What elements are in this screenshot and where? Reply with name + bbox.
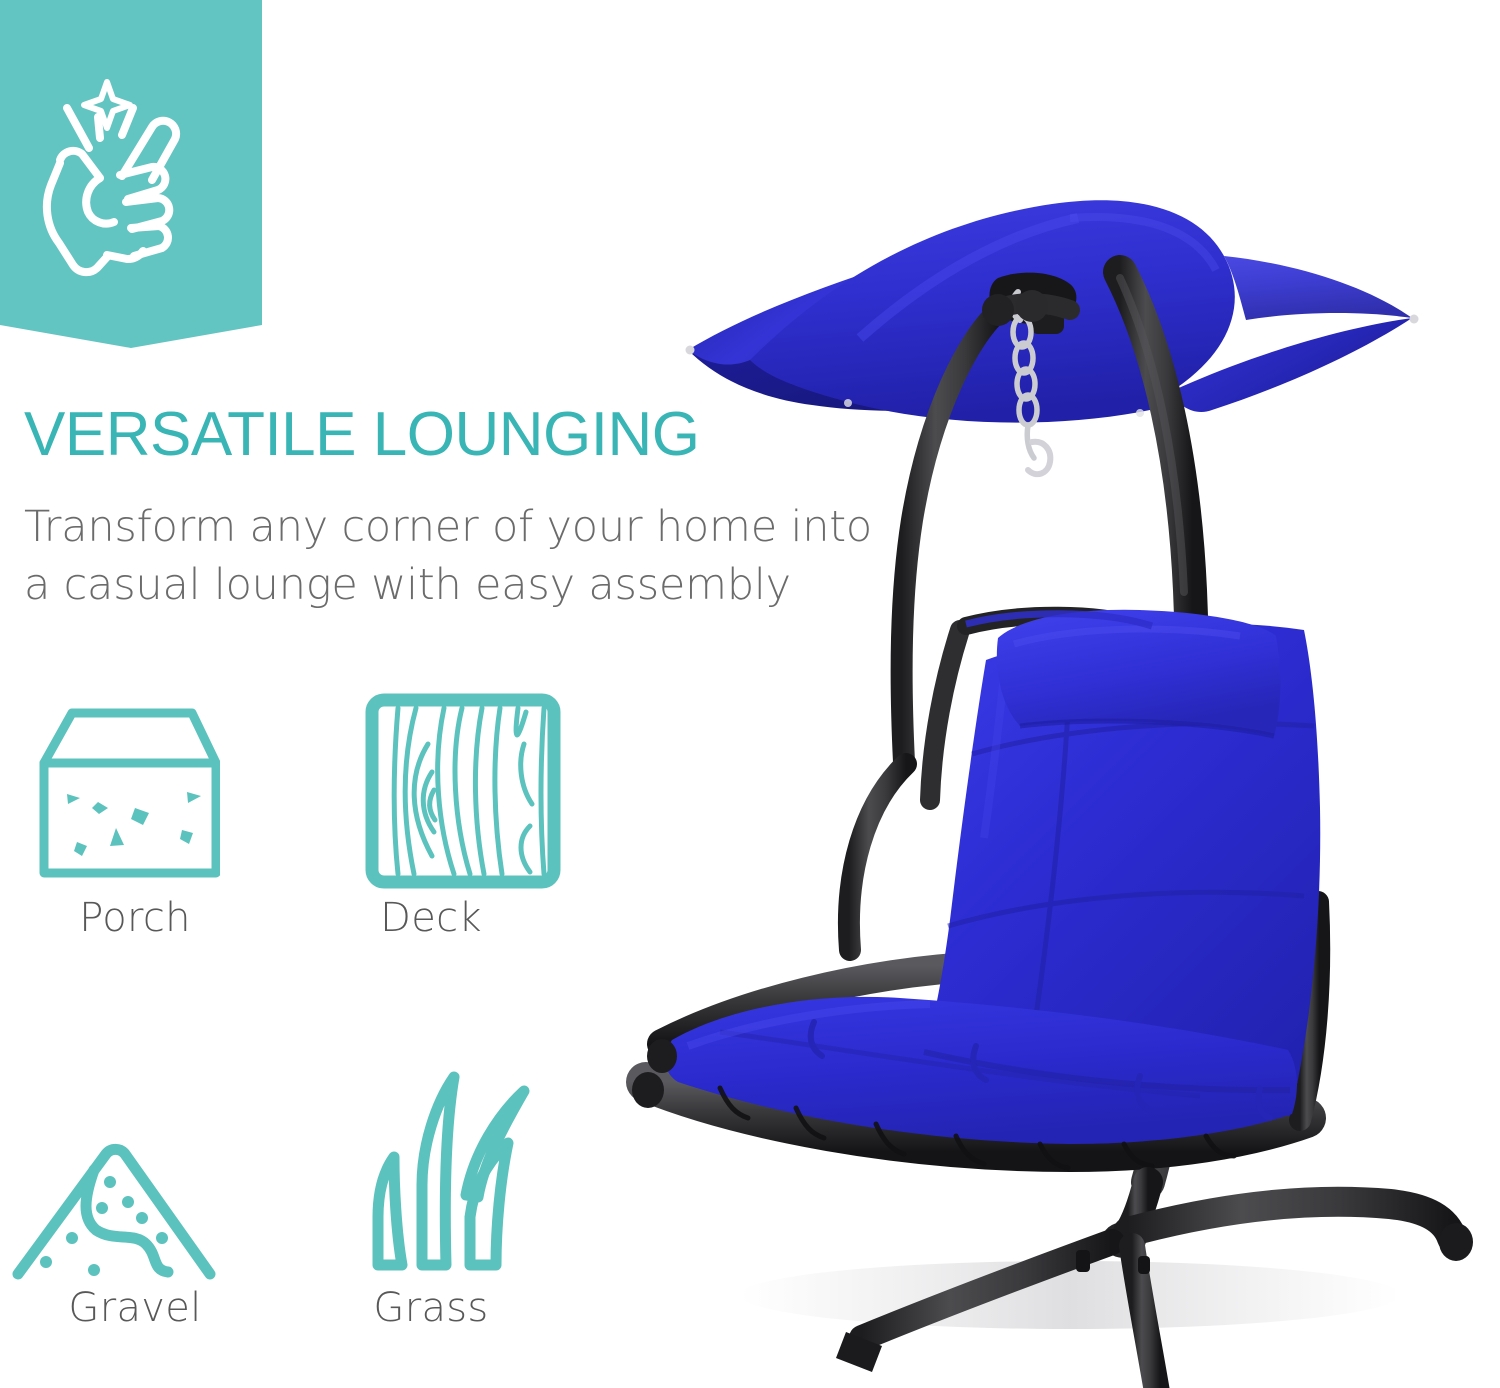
frame-end-cap <box>647 1039 677 1073</box>
grass-blades-icon <box>296 1060 566 1275</box>
concrete-block-icon <box>0 670 270 885</box>
product-photo-hanging-chaise-lounge <box>600 160 1500 1388</box>
surface-compatibility-grid: Porch <box>0 660 600 1360</box>
wood-grain-icon <box>296 670 566 885</box>
feature-badge-ribbon <box>0 0 262 348</box>
aggregate-specks <box>67 792 201 856</box>
base-leg-rear <box>1128 1202 1452 1238</box>
feature-item-gravel: Gravel <box>0 1060 270 1275</box>
feature-label-deck: Deck <box>296 895 566 941</box>
gravel-pile-icon <box>0 1060 270 1275</box>
feature-label-porch: Porch <box>0 895 270 941</box>
feature-item-grass: Grass <box>296 1060 566 1275</box>
marketing-image: VERSATILE LOUNGING Transform any corner … <box>0 0 1500 1388</box>
frame-end-cap-lower <box>632 1072 664 1108</box>
headrest-pillow <box>997 610 1280 736</box>
canopy-rib-tip-right <box>1410 315 1419 324</box>
feature-label-gravel: Gravel <box>0 1285 270 1331</box>
feature-label-grass: Grass <box>296 1285 566 1331</box>
feature-item-deck: Deck <box>296 670 566 885</box>
feature-item-porch: Porch <box>0 670 270 885</box>
foot-cap-rear <box>1439 1223 1473 1261</box>
page-title: VERSATILE LOUNGING <box>24 404 699 466</box>
canopy-rib-tip-left <box>686 346 695 355</box>
